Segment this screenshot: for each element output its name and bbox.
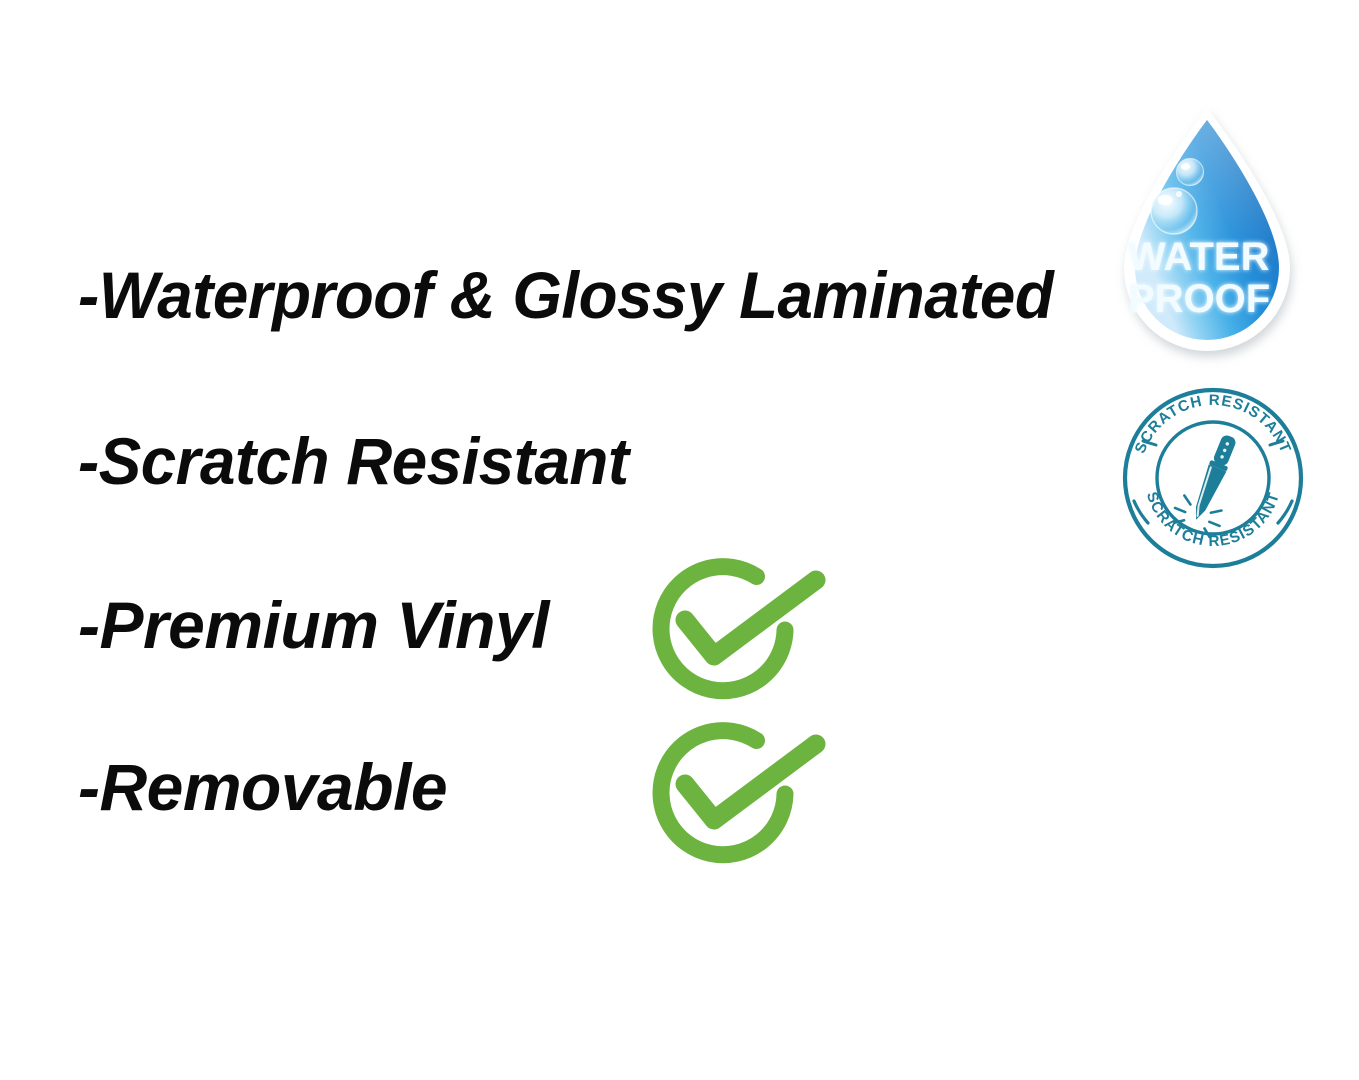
feature-line-scratch-resistant: -Scratch Resistant [78,428,629,494]
scratch-resistant-badge: SCRATCH RESISTANT SCRATCH RESISTANT [1118,383,1308,573]
feature-line-waterproof-glossy-laminated: -Waterproof & Glossy Laminated [78,262,1053,328]
check-mark-stroke [685,580,816,656]
check-circle-icon-removable [638,722,838,882]
waterproof-line1: WATER [1128,235,1270,279]
feature-line-premium-vinyl: -Premium Vinyl [78,592,549,658]
feature-line-removable: -Removable [78,754,447,820]
water-bubble-large [1151,188,1197,234]
promo-feature-graphic: -Waterproof & Glossy Laminated -Scratch … [0,0,1359,1080]
check-circle-icon-premium-vinyl [638,558,838,718]
knife-icon [1170,427,1252,539]
waterproof-badge: WATER PROOF [1104,104,1310,370]
stamp-text-bottom: SCRATCH RESISTANT [1143,490,1283,550]
check-mark-stroke [685,744,816,820]
waterproof-line2: PROOF [1128,277,1270,321]
water-bubble-small [1177,159,1204,186]
